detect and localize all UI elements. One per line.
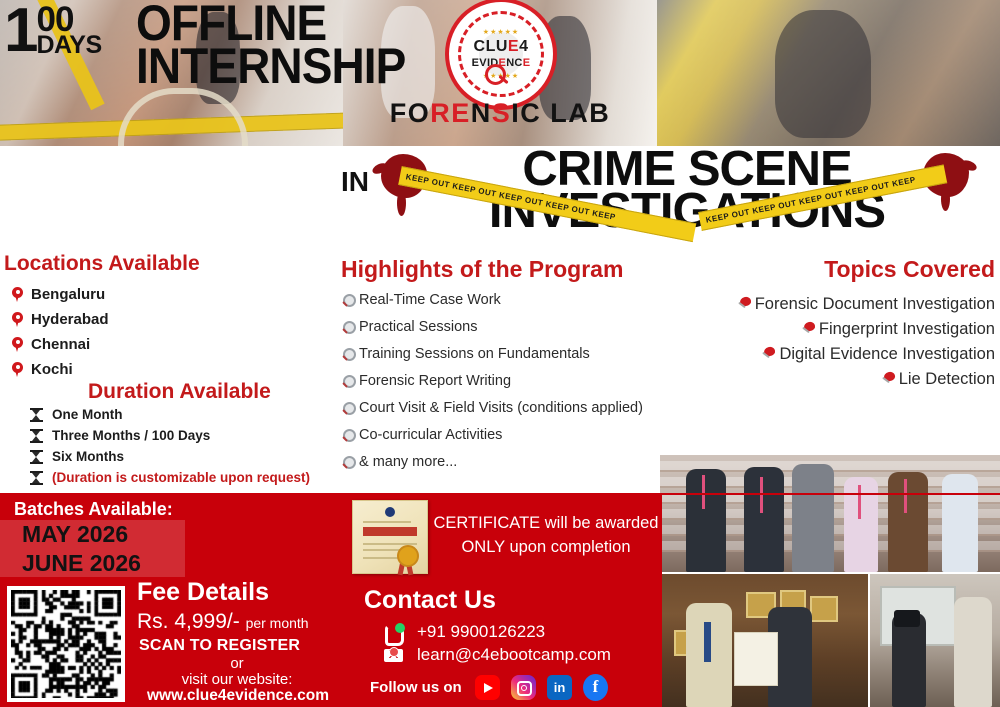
duration-label: Six Months [52,449,124,464]
youtube-icon[interactable] [475,675,500,700]
highlight-label: Forensic Report Writing [359,373,511,389]
map-pin-icon [12,337,23,352]
photo-person [686,469,726,572]
photo-person [954,597,992,707]
map-pin-icon [12,362,23,377]
fee-or-label: or [137,655,337,672]
list-item: Court Visit & Field Visits (conditions a… [341,400,643,427]
certificate-note-line2: ONLY upon completion [430,536,662,560]
social-links: in f [475,674,608,701]
pushpin-icon [881,372,897,388]
pushpin-icon [737,297,753,313]
fee-amount: Rs. 4,999/- per month [137,610,309,634]
photo-person [892,613,926,707]
batch-month-june: JUNE 2026 [22,550,141,577]
certificate-note: CERTIFICATE will be awarded ONLY upon co… [430,512,662,560]
list-item: Digital Evidence Investigation [690,342,995,367]
pushpin-icon [761,347,777,363]
hourglass-icon [30,470,43,486]
lab-n: N [471,98,492,128]
duration-note: (Duration is customizable upon request) [52,470,310,485]
headline-offline-internship: OFFLINE INTERNSHIP [136,2,429,87]
forensic-lab-title: FORENSIC LAB [0,98,1000,129]
photo-person [744,467,784,572]
logo-nc: NC [506,57,523,69]
highlights-title: Highlights of the Program [341,256,623,283]
qr-code-register[interactable] [7,586,125,702]
magnifier-icon [341,348,355,363]
logo-text-line1: CLUE4 [474,39,529,55]
photo-person [888,472,928,572]
list-item: Three Months / 100 Days [30,425,310,446]
list-item: Chennai [12,332,109,357]
map-pin-icon [12,287,23,302]
list-item: Practical Sessions [341,319,643,346]
photo-person [844,477,878,572]
list-item: Kochi [12,357,109,382]
contact-email-row[interactable]: learn@c4ebootcamp.com [383,645,611,665]
list-item: Co-curricular Activities [341,427,643,454]
duration-badge-100-days: 1 00 DAYS [4,6,102,57]
magnifier-icon [341,321,355,336]
website-url[interactable]: www.clue4evidence.com [133,687,343,705]
brand-logo: ★★★★★ CLUE4 EVIDENCE ★★★★★ [453,6,549,102]
lab-re: RE [430,98,471,128]
topic-label: Forensic Document Investigation [755,295,995,314]
badge-days-label: DAYS [36,35,101,56]
headline-connector-in: IN [341,166,369,198]
contact-phone-row[interactable]: +91 9900126223 [383,622,545,642]
list-item: Hyderabad [12,307,109,332]
logo-inner: ★★★★★ CLUE4 EVIDENCE ★★★★★ [465,18,537,90]
location-label: Kochi [31,361,73,378]
pushpin-icon [801,322,817,338]
list-item: Lie Detection [690,367,995,392]
photo-person [792,464,834,572]
scan-to-register-label: SCAN TO REGISTER [139,637,300,655]
highlights-list: Real-Time Case Work Practical Sessions T… [341,292,643,481]
duration-label: Three Months / 100 Days [52,428,210,443]
whatsapp-phone-icon [383,623,405,642]
magnifier-icon [341,375,355,390]
location-label: Hyderabad [31,311,109,328]
magnifier-icon [341,294,355,309]
photo-camera-session [870,574,1000,707]
facebook-icon[interactable]: f [583,674,608,701]
highlight-label: Court Visit & Field Visits (conditions a… [359,400,643,416]
highlight-label: Practical Sessions [359,319,477,335]
batches-available-label: Batches Available: [14,499,173,520]
hourglass-icon [30,449,43,465]
list-item: (Duration is customizable upon request) [30,467,310,488]
contact-email-address: learn@c4ebootcamp.com [417,645,611,665]
certificate-seal [397,545,419,567]
topic-label: Lie Detection [899,370,995,389]
fee-details-title: Fee Details [137,578,269,607]
fee-period: per month [246,615,309,631]
photo-certificate-paper [734,632,778,686]
visit-website-label: visit our website: [137,671,337,688]
topics-title: Topics Covered [690,256,995,283]
lab-ic-lab: IC LAB [511,98,610,128]
lab-s: S [492,98,512,128]
list-item: Fingerprint Investigation [690,317,995,342]
location-label: Chennai [31,336,90,353]
highlight-label: & many more... [359,454,457,470]
list-item: & many more... [341,454,643,481]
duration-list: One Month Three Months / 100 Days Six Mo… [30,404,310,488]
topic-label: Digital Evidence Investigation [779,345,995,364]
topics-list: Forensic Document Investigation Fingerpr… [690,292,995,392]
map-pin-icon [12,312,23,327]
duration-title: Duration Available [88,380,271,404]
hourglass-icon [30,428,43,444]
badge-digit-one: 1 [4,6,36,57]
highlight-label: Real-Time Case Work [359,292,501,308]
logo-e: E [508,38,519,55]
follow-us-label: Follow us on [370,679,462,696]
camera-icon [894,610,920,627]
magnifier-icon [485,64,506,85]
photo-person [942,474,978,572]
headline-line-internship: INTERNSHIP [136,45,405,88]
magnifier-icon [341,429,355,444]
highlight-label: Training Sessions on Fundamentals [359,346,590,362]
topic-label: Fingerprint Investigation [819,320,995,339]
list-item: Training Sessions on Fundamentals [341,346,643,373]
certificate-illustration [352,500,428,574]
list-item: Six Months [30,446,310,467]
list-item: Forensic Document Investigation [690,292,995,317]
locations-list: Bengaluru Hyderabad Chennai Kochi [12,282,109,382]
contact-phone-number: +91 9900126223 [417,622,545,642]
list-item: Real-Time Case Work [341,292,643,319]
batch-month-may: MAY 2026 [22,521,128,548]
magnifier-icon [341,456,355,471]
instagram-icon[interactable] [511,675,536,700]
linkedin-icon[interactable]: in [547,675,572,700]
fee-price: Rs. 4,999/- [137,610,240,633]
list-item: Bengaluru [12,282,109,307]
logo-stars-top: ★★★★★ [465,28,537,36]
hourglass-icon [30,407,43,423]
photo-certificate-award [660,574,868,707]
lab-fo: FO [390,98,431,128]
magnifier-icon [341,402,355,417]
certificate-ribbon [363,527,417,536]
locations-title: Locations Available [4,252,200,276]
logo-four: 4 [519,38,528,55]
logo-clu: CLU [474,38,508,55]
certificate-emblem [385,507,395,517]
highlight-label: Co-curricular Activities [359,427,502,443]
logo-e3: E [523,57,531,69]
certificate-note-line1: CERTIFICATE will be awarded [430,512,662,536]
location-label: Bengaluru [31,286,105,303]
photo-group-on-steps [660,455,1000,572]
contact-us-title: Contact Us [364,586,496,615]
poster-flyer: ★★★★★ CLUE4 EVIDENCE ★★★★★ FORENSIC LAB … [0,0,1000,707]
list-item: One Month [30,404,310,425]
duration-label: One Month [52,407,123,422]
list-item: Forensic Report Writing [341,373,643,400]
email-icon [383,646,405,665]
